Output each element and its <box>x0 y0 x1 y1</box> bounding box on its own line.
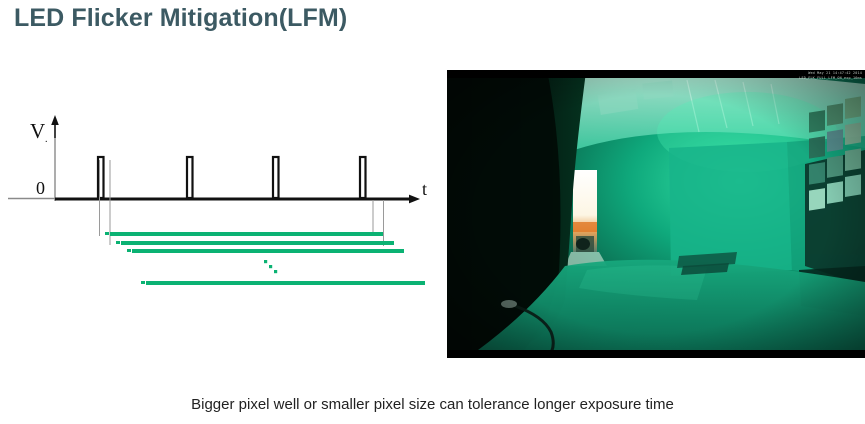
slide-caption: Bigger pixel well or smaller pixel size … <box>0 396 865 413</box>
page-title: LED Flicker Mitigation(LFM) <box>14 4 347 33</box>
lab-photo-svg <box>447 70 865 358</box>
pulse-2 <box>187 157 193 198</box>
t-axis-label: t <box>422 179 427 199</box>
v-axis <box>51 115 59 201</box>
pulse-train <box>98 157 366 198</box>
exposure-line-start-caps <box>105 232 145 284</box>
timing-diagram-svg: V . 0 t <box>0 60 440 320</box>
pulse-1 <box>98 157 104 198</box>
exposure-lines <box>110 234 425 283</box>
lab-photo: Wed May 21 14:47:42 2014 LED_FLK_FULL_LF… <box>447 70 865 358</box>
v-axis-label: V <box>30 119 45 143</box>
timing-diagram: V . 0 t <box>0 60 440 320</box>
origin-label: 0 <box>36 178 45 198</box>
overlay-line-2: LED_FLK_FULL_LFM_ON_exp_16ms <box>799 76 862 81</box>
pulse-4 <box>360 157 366 198</box>
t-axis <box>8 195 420 204</box>
ellipsis-dots <box>264 260 277 273</box>
letterbox-bottom <box>447 350 865 358</box>
pulse-3 <box>273 157 279 198</box>
overlay-line-1: Wed May 21 14:47:42 2014 <box>799 71 862 76</box>
v-axis-subscript: . <box>45 134 48 145</box>
photo-overlay-telemetry: Wed May 21 14:47:42 2014 LED_FLK_FULL_LF… <box>799 71 862 80</box>
